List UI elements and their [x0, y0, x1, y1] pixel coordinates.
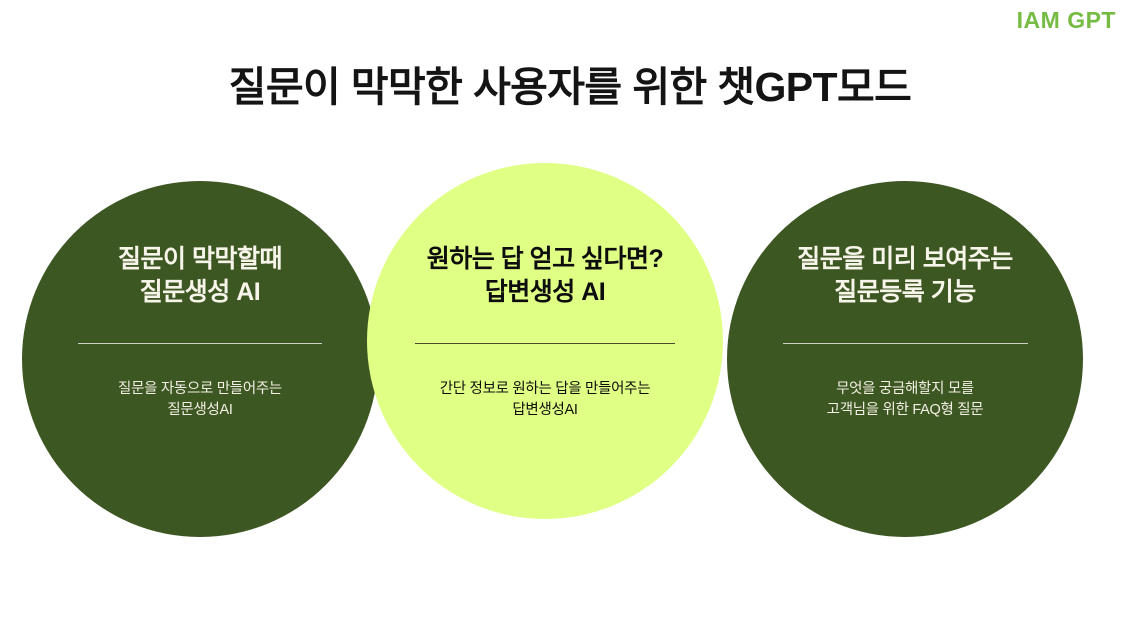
circle-divider: [783, 343, 1028, 344]
circle-content: 질문이 막막할때 질문생성 AI 질문을 자동으로 만들어주는 질문생성AI: [22, 181, 378, 422]
circle-heading: 원하는 답 얻고 싶다면? 답변생성 AI: [381, 243, 709, 310]
slide-canvas: IAM GPT 질문이 막막한 사용자를 위한 챗GPT모드 질문이 막막할때 …: [0, 0, 1140, 640]
feature-circle-question-generation: 질문이 막막할때 질문생성 AI 질문을 자동으로 만들어주는 질문생성AI: [22, 181, 378, 537]
circle-body: 간단 정보로 원하는 답을 만들어주는 답변생성AI: [381, 379, 709, 423]
circle-content: 질문을 미리 보여주는 질문등록 기능 무엇을 궁금해할지 모를 고객님을 위한…: [727, 181, 1083, 422]
circle-content: 원하는 답 얻고 싶다면? 답변생성 AI 간단 정보로 원하는 답을 만들어주…: [367, 163, 723, 422]
circle-body: 무엇을 궁금해할지 모를 고객님을 위한 FAQ형 질문: [741, 379, 1069, 423]
circle-divider: [78, 343, 322, 344]
circle-body: 질문을 자동으로 만들어주는 질문생성AI: [36, 379, 364, 423]
circle-heading: 질문을 미리 보여주는 질문등록 기능: [741, 243, 1069, 310]
circle-divider: [415, 343, 675, 344]
feature-circle-answer-generation: 원하는 답 얻고 싶다면? 답변생성 AI 간단 정보로 원하는 답을 만들어주…: [367, 163, 723, 519]
venn-circle-group: 질문이 막막할때 질문생성 AI 질문을 자동으로 만들어주는 질문생성AI 원…: [0, 0, 1140, 640]
circle-heading: 질문이 막막할때 질문생성 AI: [36, 243, 364, 310]
feature-circle-question-registration: 질문을 미리 보여주는 질문등록 기능 무엇을 궁금해할지 모를 고객님을 위한…: [727, 181, 1083, 537]
